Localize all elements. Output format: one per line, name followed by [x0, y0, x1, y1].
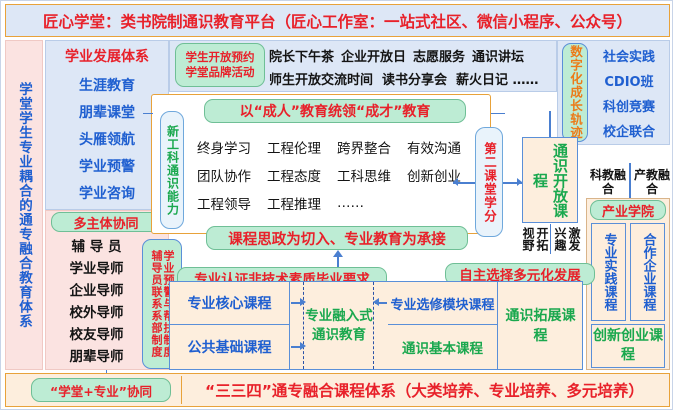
connector-core-right: [491, 113, 505, 114]
footer-title: “三三四”通专融合课程体系（大类培养、专业培养、多元培养）: [205, 379, 644, 401]
core-title: 以“成人”教育统领“成才”教育: [240, 101, 431, 121]
footer-title-wrap: “三三四”通专融合课程体系（大类培养、专业培养、多元培养）: [181, 376, 667, 404]
activity-item[interactable]: 薪火日记 ……: [456, 69, 539, 88]
activity-item[interactable]: 师生开放交流时间: [269, 69, 373, 88]
integration-right-label: 产教融合: [633, 166, 671, 198]
left-rail-label: 学堂学生专业耦合的通专融合教育体系: [16, 82, 32, 329]
badge-line-2: 学堂品牌活动: [186, 65, 255, 80]
ability-item[interactable]: 工程领导: [197, 193, 267, 213]
industry-college-title-pill: 产业学院: [590, 200, 666, 220]
academic-item[interactable]: 学业咨询: [46, 179, 168, 206]
mentor-item[interactable]: 辅 导 员: [49, 234, 144, 256]
connector-arrow-right-head: [517, 178, 522, 186]
badge-line-1: 学生开放预约: [186, 50, 255, 65]
ability-item: ……: [337, 195, 407, 211]
diagram-canvas: 匠心学堂：类书院制通识教育平台（匠心工作室：一站式社区、微信小程序、公众号） 学…: [0, 0, 673, 410]
bridge-arrow-head: [333, 250, 343, 257]
footer-badge: “学堂+专业”协同: [31, 378, 171, 402]
general-open-course-label: 通识开放课程: [530, 138, 570, 222]
academic-item[interactable]: 头雁领航: [46, 125, 168, 152]
integration-connector: [629, 163, 631, 199]
academic-development-title: 学业发展体系: [46, 41, 168, 71]
connector-arrow-left-head: [453, 178, 458, 186]
digital-track-label: 数字化成长轨迹: [568, 45, 582, 140]
academic-item[interactable]: 朋辈课堂: [46, 98, 168, 125]
course-cell-general-basic[interactable]: 通识基本课程: [388, 325, 498, 369]
new-engineering-label: 新工科通识能力: [166, 125, 179, 216]
arrow-elective-to-center-head: [373, 298, 379, 306]
integration-left-label: 科教融合: [589, 166, 627, 198]
mentor-item[interactable]: 朋辈导师: [49, 344, 144, 366]
ability-item[interactable]: 工程推理: [267, 193, 337, 213]
mentor-item[interactable]: 企业导师: [49, 278, 144, 300]
innovation-course-box[interactable]: 创新创业课程: [591, 324, 665, 368]
industry-college-column[interactable]: 专业实践课程: [591, 223, 626, 321]
activity-item[interactable]: 院长下午茶: [269, 46, 334, 65]
course-cell-general-extension[interactable]: 通识拓展课程: [499, 282, 582, 369]
general-open-course-box[interactable]: 通识开放课程: [522, 137, 578, 223]
core-title-pill: 以“成人”教育统领“成才”教育: [204, 99, 466, 123]
track-item[interactable]: 社会实践: [591, 43, 667, 68]
activity-item[interactable]: 志愿服务: [413, 46, 465, 65]
footer-badge-label: “学堂+专业”协同: [50, 381, 152, 400]
mentor-system-label: 辅导员联系系部制度: [150, 250, 162, 358]
abilities-grid: 终身学习 工程伦理 跨界整合 有效沟通 团队协作 工程态度 工科思维 创新创业 …: [197, 133, 477, 229]
activity-item[interactable]: 读书分享会: [382, 69, 447, 88]
ability-item[interactable]: 跨界整合: [337, 137, 407, 157]
header-title: 匠心学堂：类书院制通识教育平台（匠心工作室：一站式社区、微信小程序、公众号）: [43, 10, 632, 32]
bridge-pill: 课程思政为切入、专业教育为承接: [206, 226, 468, 250]
course-cell-major-elective[interactable]: 专业选修模块课程: [388, 282, 498, 325]
general-open-note: 开拓视野: [520, 224, 550, 254]
multi-subject-title-pill: 多主体协同: [51, 212, 161, 232]
ability-item[interactable]: 工程伦理: [267, 137, 337, 157]
mentor-item[interactable]: 校友导师: [49, 322, 144, 344]
new-engineering-rail: 新工科通识能力: [160, 111, 184, 229]
track-item[interactable]: 校企联合: [591, 118, 667, 143]
header-banner: 匠心学堂：类书院制通识教育平台（匠心工作室：一站式社区、微信小程序、公众号）: [5, 4, 670, 37]
second-classroom-label: 第二课堂学分: [482, 142, 496, 223]
connector-track-vertical: [549, 111, 551, 137]
ability-item[interactable]: 有效沟通: [407, 137, 477, 157]
mentor-item[interactable]: 学业导师: [49, 256, 144, 278]
industry-college-column[interactable]: 合作企业课程: [630, 223, 665, 321]
connector-core-left: [143, 113, 153, 114]
open-activities-badge: 学生开放预约 学堂品牌活动: [175, 43, 265, 87]
arrow-core-to-center-head: [300, 298, 306, 306]
multi-subject-items: 辅 导 员 学业导师 企业导师 校外导师 校友导师 朋辈导师: [49, 234, 144, 368]
course-cell-major-core[interactable]: 专业核心课程: [170, 282, 290, 325]
left-rail: 学堂学生专业耦合的通专融合教育体系: [5, 40, 43, 370]
academic-item[interactable]: 学业预警: [46, 152, 168, 179]
note-divider: [550, 224, 551, 254]
academic-item[interactable]: 生涯教育: [46, 71, 168, 98]
bridge-label: 课程思政为切入、专业教育为承接: [228, 228, 446, 249]
course-cell-public-basic[interactable]: 公共基础课程: [170, 325, 290, 369]
digital-track-items: 社会实践 CDIO班 科创竞赛 校企联合: [591, 43, 667, 143]
open-activities-list: 院长下午茶 企业开放日 志愿服务 通识讲坛 师生开放交流时间 读书分享会 薪火日…: [269, 44, 554, 90]
ability-item[interactable]: 工科思维: [337, 165, 407, 185]
digital-track-label-pill: 数字化成长轨迹: [562, 43, 588, 142]
track-item[interactable]: 科创竞赛: [591, 93, 667, 118]
course-cell-integrated-general[interactable]: 专业融入式通识教育: [305, 284, 373, 368]
center-dash-right: [373, 282, 374, 369]
track-item[interactable]: CDIO班: [591, 68, 667, 93]
ability-item[interactable]: 终身学习: [197, 137, 267, 157]
ability-item[interactable]: 团队协作: [197, 165, 267, 185]
ability-item[interactable]: 工程态度: [267, 165, 337, 185]
activity-item[interactable]: 通识讲坛: [472, 46, 524, 65]
center-dash-left: [303, 282, 304, 369]
second-classroom-pill: 第二课堂学分: [475, 127, 503, 237]
mentor-item[interactable]: 校外导师: [49, 300, 144, 322]
general-open-note: 激发兴趣: [552, 224, 582, 254]
activity-item[interactable]: 企业开放日: [341, 46, 406, 65]
arrow-basic-to-center-head: [300, 342, 306, 350]
